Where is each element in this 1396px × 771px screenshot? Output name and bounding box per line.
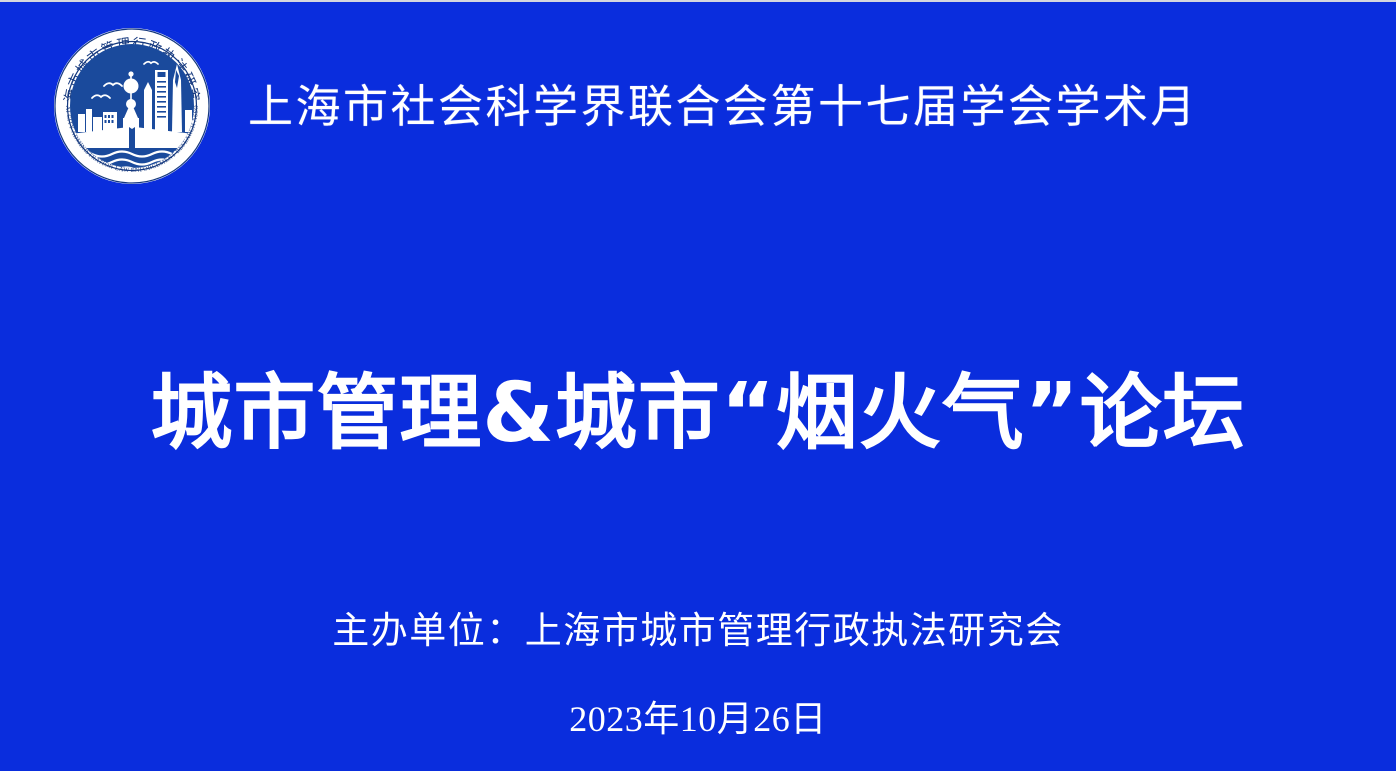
event-date: 2023年10月26日 — [0, 690, 1396, 742]
organizer-line: 主办单位：上海市城市管理行政执法研究会 — [0, 600, 1396, 654]
presentation-slide: 上海市城市管理行政执法研究会 SHANGHAI CITY ADMINISTRAT… — [0, 0, 1396, 771]
event-series-header: 上海市社会科学界联合会第十七届学会学术月 — [248, 60, 1208, 144]
association-logo: 上海市城市管理行政执法研究会 SHANGHAI CITY ADMINISTRAT… — [52, 26, 212, 186]
forum-title: 城市管理&城市“烟火气”论坛 — [0, 367, 1396, 461]
